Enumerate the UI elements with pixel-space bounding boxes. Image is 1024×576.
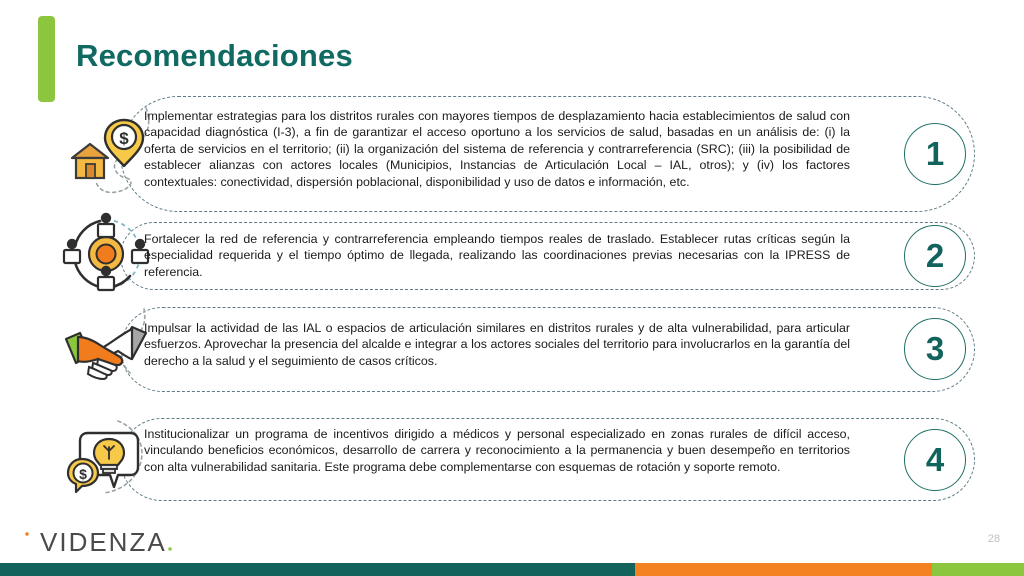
lightbulb-speech-bubble-dollar-icon: $: [60, 413, 152, 505]
recommendation-number-3: 3: [926, 332, 944, 365]
page-title: Recomendaciones: [76, 38, 353, 74]
recommendation-number-2: 2: [926, 239, 944, 272]
network-people-hub-icon: [60, 208, 152, 300]
bottom-bar-segment-green: [932, 563, 1024, 576]
recommendation-row-3: Impulsar la actividad de las IAL o espac…: [60, 307, 980, 392]
recommendation-text-4: Institucionalizar un programa de incenti…: [144, 426, 850, 475]
bottom-bar-segment-orange: [635, 563, 932, 576]
logo-dot-icon: [167, 529, 179, 555]
house-location-pin-dollar-icon: $: [60, 104, 152, 196]
svg-text:$: $: [79, 466, 87, 482]
handshake-icon: [60, 303, 152, 395]
recommendation-badge-4: 4: [904, 429, 966, 491]
slide-canvas: Recomendaciones $ Implementar estrategia…: [0, 0, 1024, 576]
title-accent-bar: [38, 16, 55, 102]
recommendation-row-2: Fortalecer la red de referencia y contra…: [60, 222, 980, 290]
recommendation-text-2: Fortalecer la red de referencia y contra…: [144, 231, 850, 280]
recommendation-number-4: 4: [926, 443, 944, 476]
recommendation-badge-2: 2: [904, 225, 966, 287]
bottom-bar-segment-teal: [0, 563, 635, 576]
recommendation-row-1: $ Implementar estrategias para los distr…: [60, 96, 980, 212]
recommendation-badge-3: 3: [904, 318, 966, 380]
svg-text:$: $: [119, 129, 129, 148]
videnza-logo: VIDENZA: [18, 528, 179, 556]
recommendation-text-1: Implementar estrategias para los distrit…: [144, 108, 850, 190]
recommendation-number-1: 1: [926, 137, 944, 170]
recommendation-row-4: $ Institucionalizar un programa de incen…: [60, 418, 980, 501]
logo-text: VIDENZA: [40, 527, 167, 558]
bottom-color-bar: [0, 563, 1024, 576]
page-number: 28: [988, 533, 1000, 545]
recommendation-badge-1: 1: [904, 123, 966, 185]
recommendation-text-3: Impulsar la actividad de las IAL o espac…: [144, 320, 850, 369]
